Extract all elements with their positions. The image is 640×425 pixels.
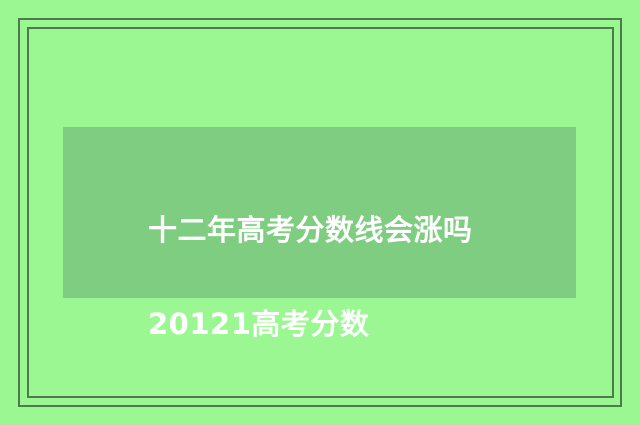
headline-line-2: 20121高考分数 [148,301,568,348]
headline-panel: 十二年高考分数线会涨吗 20121高考分数 [63,127,576,298]
image-canvas: 十二年高考分数线会涨吗 20121高考分数 [0,0,640,425]
headline-text-block: 十二年高考分数线会涨吗 20121高考分数 [148,160,568,395]
headline-line-1: 十二年高考分数线会涨吗 [148,207,568,254]
